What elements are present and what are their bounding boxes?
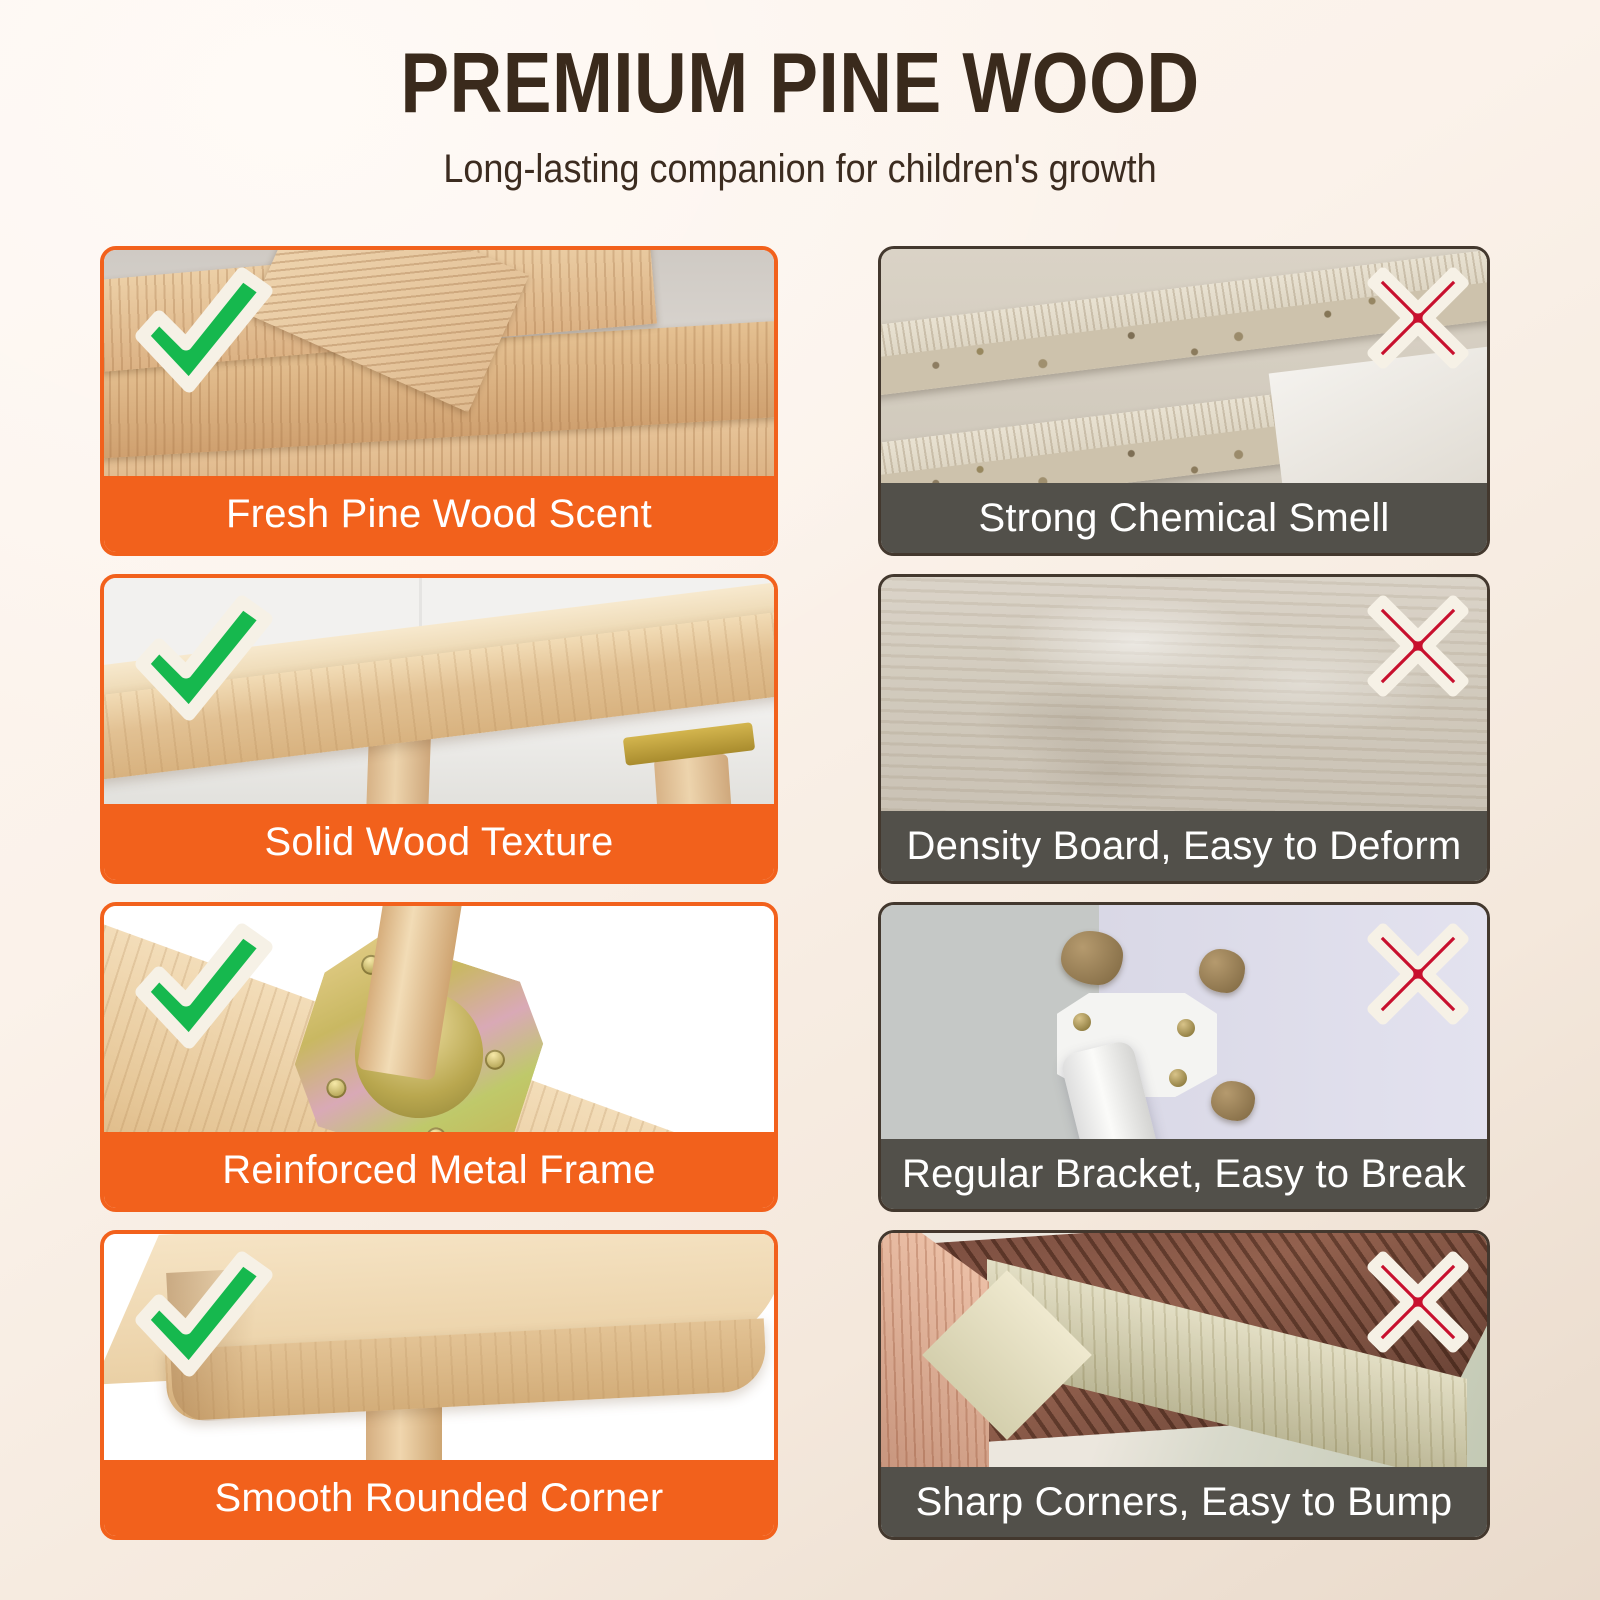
comparison-card-good-4[interactable]: Smooth Rounded Corner	[100, 1230, 778, 1540]
broken-white-bracket-photo	[881, 905, 1487, 1139]
cross-mark-icon	[1363, 591, 1473, 701]
comparison-card-bad-2[interactable]: Density Board, Easy to Deform	[878, 574, 1490, 884]
check-mark-icon	[126, 264, 276, 394]
comparison-card-bad-3[interactable]: Regular Bracket, Easy to Break	[878, 902, 1490, 1212]
page-title: PREMIUM PINE WOOD	[112, 0, 1488, 130]
comparison-card-bad-1[interactable]: Strong Chemical Smell	[878, 246, 1490, 556]
cross-mark-icon	[1363, 919, 1473, 1029]
header: PREMIUM PINE WOOD Long-lasting companion…	[0, 0, 1600, 192]
particle-board-edges-photo	[881, 249, 1487, 483]
sharp-board-corner-photo	[881, 1233, 1487, 1467]
card-caption: Smooth Rounded Corner	[104, 1460, 774, 1536]
comparison-grid: Fresh Pine Wood Scent Strong Chemical Sm…	[100, 246, 1490, 1540]
card-caption: Sharp Corners, Easy to Bump	[881, 1467, 1487, 1537]
check-mark-icon	[126, 920, 276, 1050]
check-mark-icon	[126, 592, 276, 722]
brass-mounting-plate-leg-photo	[104, 906, 774, 1132]
comparison-card-bad-4[interactable]: Sharp Corners, Easy to Bump	[878, 1230, 1490, 1540]
comparison-card-good-3[interactable]: Reinforced Metal Frame	[100, 902, 778, 1212]
card-caption: Strong Chemical Smell	[881, 483, 1487, 553]
card-caption: Fresh Pine Wood Scent	[104, 476, 774, 552]
comparison-card-good-1[interactable]: Fresh Pine Wood Scent	[100, 246, 778, 556]
solid-wood-table-apron-photo	[104, 578, 774, 804]
comparison-card-good-2[interactable]: Solid Wood Texture	[100, 574, 778, 884]
card-caption: Density Board, Easy to Deform	[881, 811, 1487, 881]
stacked-solid-pine-boards-photo	[104, 250, 774, 476]
rounded-table-corner-photo	[104, 1234, 774, 1460]
check-mark-icon	[126, 1248, 276, 1378]
card-caption: Solid Wood Texture	[104, 804, 774, 880]
card-caption: Reinforced Metal Frame	[104, 1132, 774, 1208]
warped-density-board-photo	[881, 577, 1487, 811]
cross-mark-icon	[1363, 263, 1473, 373]
infographic-page: PREMIUM PINE WOOD Long-lasting companion…	[0, 0, 1600, 1600]
page-subtitle: Long-lasting companion for children's gr…	[80, 130, 1520, 192]
cross-mark-icon	[1363, 1247, 1473, 1357]
card-caption: Regular Bracket, Easy to Break	[881, 1139, 1487, 1209]
